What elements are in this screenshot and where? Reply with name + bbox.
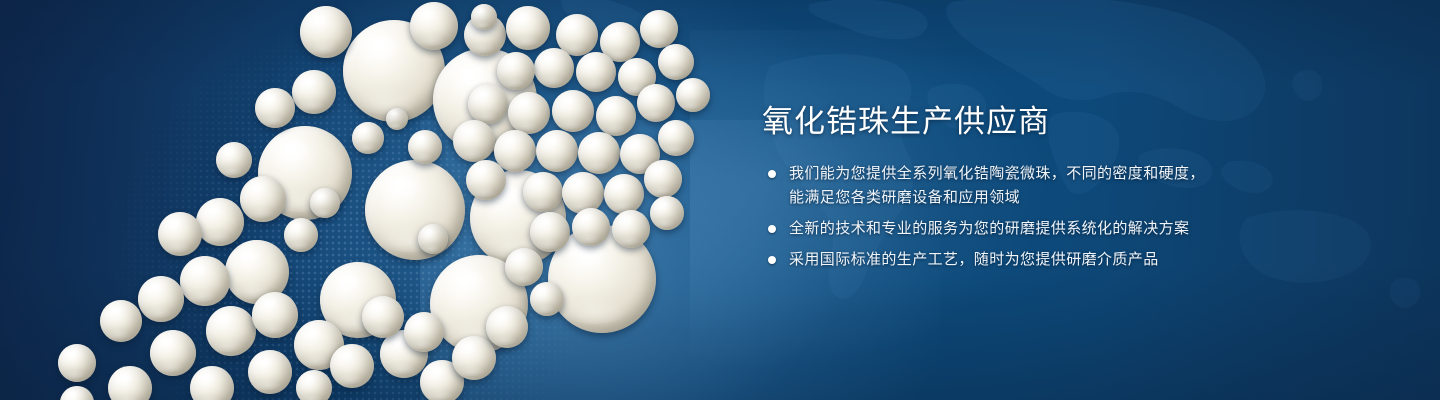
list-item-line: 采用国际标准的生产工艺，随时为您提供研磨介质产品 [789, 248, 1282, 272]
feature-list: 我们能为您提供全系列氧化锆陶瓷微珠，不同的密度和硬度， 能满足您各类研磨设备和应… [762, 162, 1282, 272]
page-title: 氧化锆珠生产供应商 [762, 104, 1282, 140]
list-item-line: 能满足您各类研磨设备和应用领域 [789, 186, 1282, 210]
list-item: 我们能为您提供全系列氧化锆陶瓷微珠，不同的密度和硬度， 能满足您各类研磨设备和应… [762, 162, 1282, 210]
list-item: 全新的技术和专业的服务为您的研磨提供系统化的解决方案 [762, 217, 1282, 241]
bullet-dot-icon [768, 225, 776, 233]
bullet-dot-icon [768, 256, 776, 264]
list-item-line: 我们能为您提供全系列氧化锆陶瓷微珠，不同的密度和硬度， [789, 162, 1282, 186]
bullet-dot-icon [768, 170, 776, 178]
banner-text-block: 氧化锆珠生产供应商 我们能为您提供全系列氧化锆陶瓷微珠，不同的密度和硬度， 能满… [762, 104, 1282, 272]
hero-banner: 氧化锆珠生产供应商 我们能为您提供全系列氧化锆陶瓷微珠，不同的密度和硬度， 能满… [0, 0, 1440, 400]
list-item: 采用国际标准的生产工艺，随时为您提供研磨介质产品 [762, 248, 1282, 272]
list-item-line: 全新的技术和专业的服务为您的研磨提供系统化的解决方案 [789, 217, 1282, 241]
